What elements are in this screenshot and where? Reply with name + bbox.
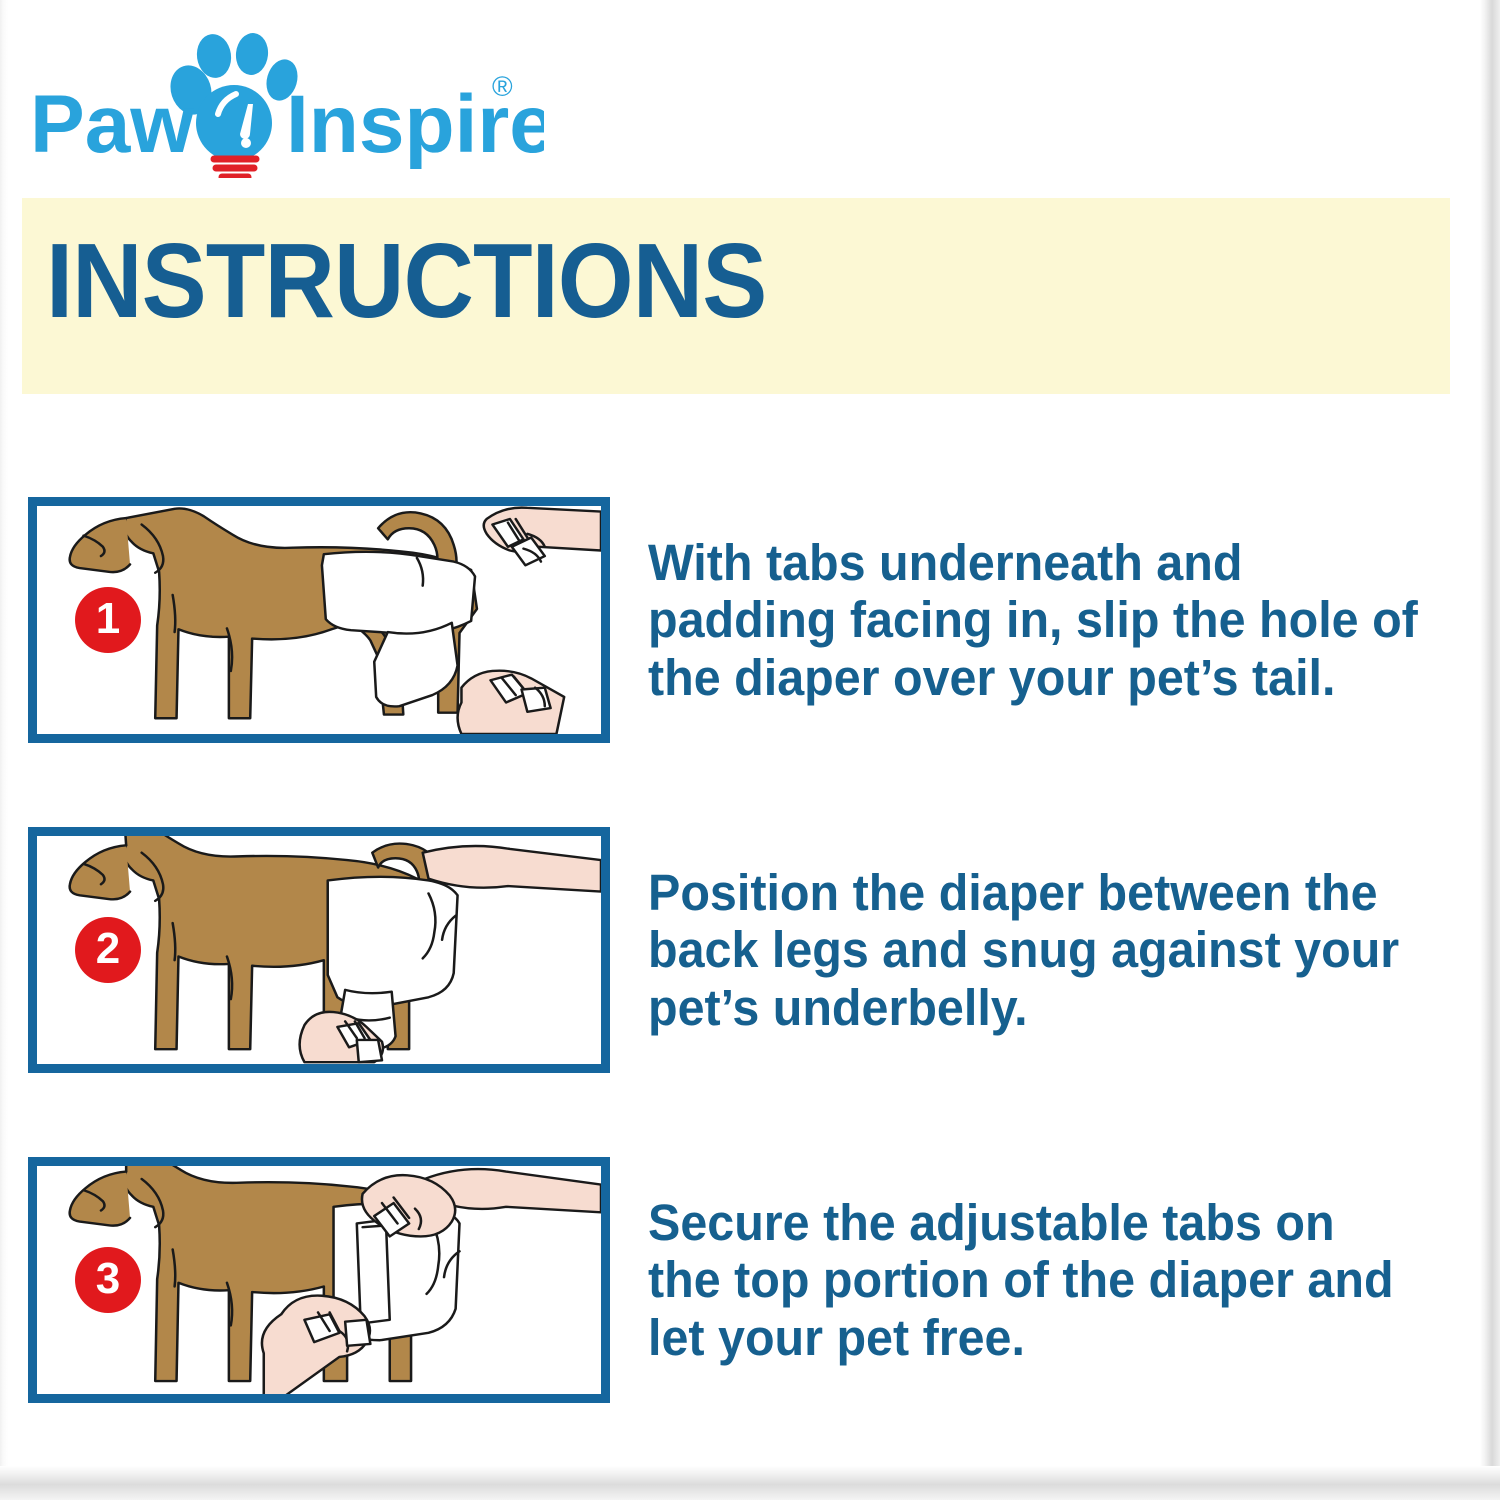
brand-logo: Paw Inspired ® <box>24 28 544 178</box>
registered-trademark-icon: ® <box>492 71 513 102</box>
brand-name-paw: Paw <box>30 79 194 170</box>
paw-lightbulb-icon: Paw Inspired ® <box>24 28 544 178</box>
instruction-step-2: 2 Position the diaper between the back l… <box>0 800 1460 1100</box>
step-number-badge: 2 <box>75 917 141 983</box>
step-number-badge: 3 <box>75 1247 141 1313</box>
step-3-text: Secure the adjustable tabs on the top po… <box>648 1194 1419 1367</box>
page-edge-bottom-shading <box>0 1466 1500 1500</box>
page-title: INSTRUCTIONS <box>46 226 766 337</box>
step-2-text: Position the diaper between the back leg… <box>648 864 1419 1037</box>
instruction-step-1: 1 With tabs underneath and padding facin… <box>0 470 1460 770</box>
step-number-badge: 1 <box>75 587 141 653</box>
step-1-illustration-panel: 1 <box>28 497 610 743</box>
step-1-text: With tabs underneath and padding facing … <box>648 534 1419 707</box>
step-3-illustration-panel: 3 <box>28 1157 610 1403</box>
instruction-step-3: 3 Secure the adjustable tabs on the top … <box>0 1130 1460 1430</box>
instructions-banner: INSTRUCTIONS <box>22 198 1450 394</box>
step-2-illustration-panel: 2 <box>28 827 610 1073</box>
page-edge-right-shading <box>1480 0 1500 1500</box>
